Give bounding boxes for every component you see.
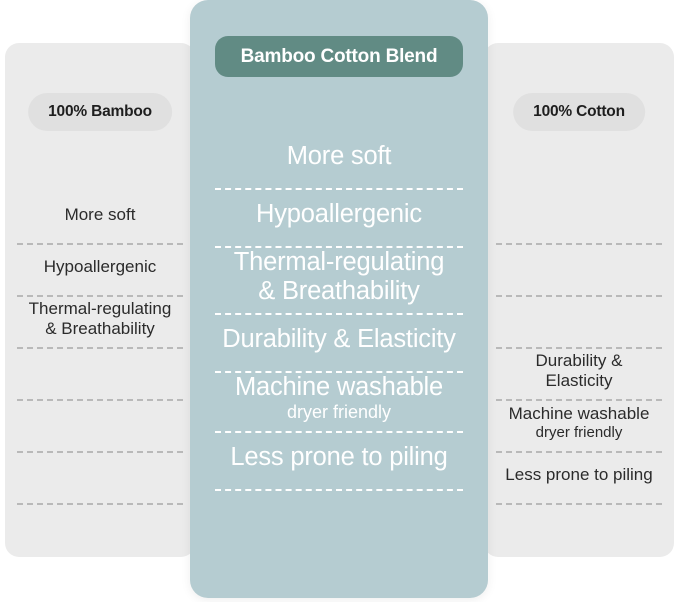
feature-row-empty <box>496 297 662 349</box>
feature-row: Thermal-regulating& Breathability <box>215 248 463 315</box>
feature-list-blend: More softHypoallergenicThermal-regulatin… <box>190 132 488 491</box>
comparison-column-cotton: 100% Cotton Durability &ElasticityMachin… <box>484 43 674 557</box>
feature-list-cotton: Durability &ElasticityMachine washabledr… <box>484 193 674 505</box>
feature-row: More soft <box>215 132 463 190</box>
feature-row: Hypoallergenic <box>215 190 463 248</box>
feature-row: Durability & Elasticity <box>215 315 463 373</box>
feature-label-line: Elasticity <box>536 371 623 391</box>
comparison-infographic: 100% Bamboo More softHypoallergenicTherm… <box>0 0 679 602</box>
feature-row-empty <box>496 245 662 297</box>
feature-label-line: & Breathability <box>29 319 172 339</box>
feature-row: Durability &Elasticity <box>496 349 662 401</box>
feature-label: Hypoallergenic <box>256 200 422 229</box>
feature-label-line: Thermal-regulating <box>234 248 444 277</box>
feature-row: Thermal-regulating& Breathability <box>17 297 183 349</box>
feature-row: Hypoallergenic <box>17 245 183 297</box>
feature-label: Thermal-regulating& Breathability <box>29 299 172 339</box>
feature-label-line: & Breathability <box>234 277 444 306</box>
comparison-column-bamboo: 100% Bamboo More softHypoallergenicTherm… <box>5 43 195 557</box>
feature-row-empty <box>17 453 183 505</box>
feature-label: Machine washable <box>235 373 443 402</box>
feature-label-line: Durability & <box>536 351 623 371</box>
feature-label: Less prone to piling <box>230 443 447 472</box>
feature-row-empty <box>17 401 183 453</box>
column-badge-bamboo: 100% Bamboo <box>28 93 172 131</box>
feature-label: Less prone to piling <box>505 465 652 485</box>
feature-label: More soft <box>65 205 136 225</box>
feature-label: Durability &Elasticity <box>536 351 623 391</box>
feature-list-bamboo: More softHypoallergenicThermal-regulatin… <box>5 193 195 505</box>
feature-row-empty <box>17 349 183 401</box>
feature-label: Thermal-regulating& Breathability <box>234 248 444 306</box>
feature-label: Durability & Elasticity <box>222 325 455 354</box>
feature-row-empty <box>496 193 662 245</box>
feature-label-line: Thermal-regulating <box>29 299 172 319</box>
feature-sublabel: dryer friendly <box>536 424 623 442</box>
comparison-column-blend: Bamboo Cotton Blend More softHypoallerge… <box>190 0 488 598</box>
feature-label: Machine washable <box>509 404 650 424</box>
feature-label: Hypoallergenic <box>44 257 156 277</box>
feature-row: Less prone to piling <box>496 453 662 505</box>
column-badge-cotton: 100% Cotton <box>513 93 645 131</box>
feature-label: More soft <box>287 142 391 171</box>
feature-sublabel: dryer friendly <box>287 402 391 424</box>
feature-row: Less prone to piling <box>215 433 463 491</box>
feature-row: Machine washabledryer friendly <box>496 401 662 453</box>
feature-row: Machine washabledryer friendly <box>215 373 463 433</box>
feature-row: More soft <box>17 193 183 245</box>
column-badge-blend: Bamboo Cotton Blend <box>215 36 463 77</box>
